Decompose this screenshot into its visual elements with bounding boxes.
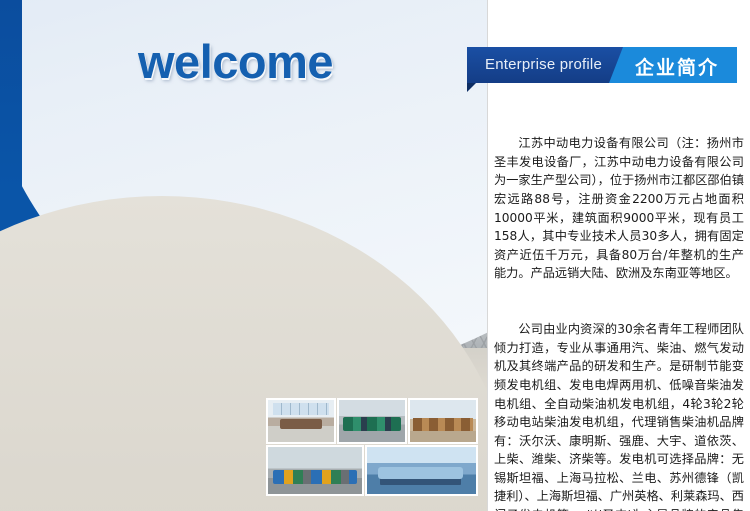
profile-content-panel: Enterprise profile 企业简介 江苏中动电力设备有限公司（注：扬… [487, 0, 750, 511]
hero-panel: 江苏中动电力设备有限公司 Zhongdong Power Equipment C… [0, 0, 487, 511]
banner-chinese-title: 企业简介 [635, 53, 719, 80]
paragraph-company-overview: 江苏中动电力设备有限公司（注：扬州市圣丰发电设备厂，江苏中动电力设备有限公司为一… [494, 134, 744, 283]
conference-room-thumbnail[interactable] [365, 445, 478, 496]
office-workers-thumbnail[interactable] [266, 398, 336, 444]
company-profile-page: 江苏中动电力设备有限公司 Zhongdong Power Equipment C… [0, 0, 750, 511]
assembly-workshop-thumbnail[interactable] [266, 445, 364, 496]
left-blue-strip-gradient [0, 0, 22, 190]
paragraph-products-and-brands: 公司由业内资深的30余名青年工程师团队倾力打造，专业从事通用汽、柴油、燃气发动机… [494, 320, 744, 511]
banner-english-title: Enterprise profile [485, 56, 602, 73]
generator-workshop-thumbnail[interactable] [337, 398, 407, 444]
company-description: 江苏中动电力设备有限公司（注：扬州市圣丰发电设备厂，江苏中动电力设备有限公司为一… [494, 97, 744, 511]
photo-thumbnail-grid [266, 398, 478, 496]
enterprise-profile-banner: Enterprise profile 企业简介 [467, 47, 737, 83]
banner-fold-tail-icon [467, 83, 476, 92]
welcome-wordmark: welcome [138, 34, 333, 89]
showroom-lobby-thumbnail[interactable] [408, 398, 478, 444]
